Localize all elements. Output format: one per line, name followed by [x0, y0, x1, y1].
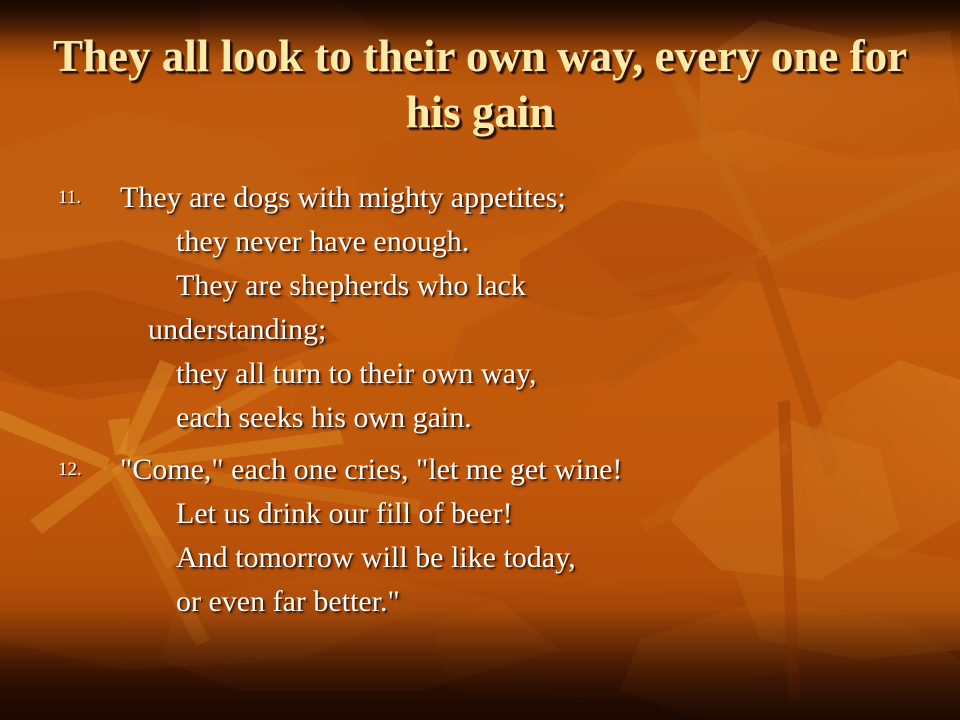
poem-line: They are dogs with mighty appetites; — [120, 176, 960, 220]
poem-line: Let us drink our fill of beer! — [120, 492, 960, 536]
list-item: 12. "Come," each one cries, "let me get … — [0, 448, 960, 624]
poem-line: they never have enough. — [120, 220, 960, 264]
verse-list: 11. They are dogs with mighty appetites;… — [0, 176, 960, 632]
poem-line: or even far better." — [120, 580, 960, 624]
poem-line: they all turn to their own way, — [120, 352, 960, 396]
page-title: They all look to their own way, every on… — [40, 28, 920, 140]
poem-line: "Come," each one cries, "let me get wine… — [120, 448, 960, 492]
presentation-slide: They all look to their own way, every on… — [0, 0, 960, 720]
poem-line: And tomorrow will be like today, — [120, 536, 960, 580]
list-item: 11. They are dogs with mighty appetites;… — [0, 176, 960, 440]
list-item-marker: 12. — [58, 460, 82, 479]
poem-line: each seeks his own gain. — [120, 396, 960, 440]
poem-line: They are shepherds who lack — [120, 264, 960, 308]
poem-line: understanding; — [120, 308, 960, 352]
list-item-marker: 11. — [58, 188, 81, 207]
